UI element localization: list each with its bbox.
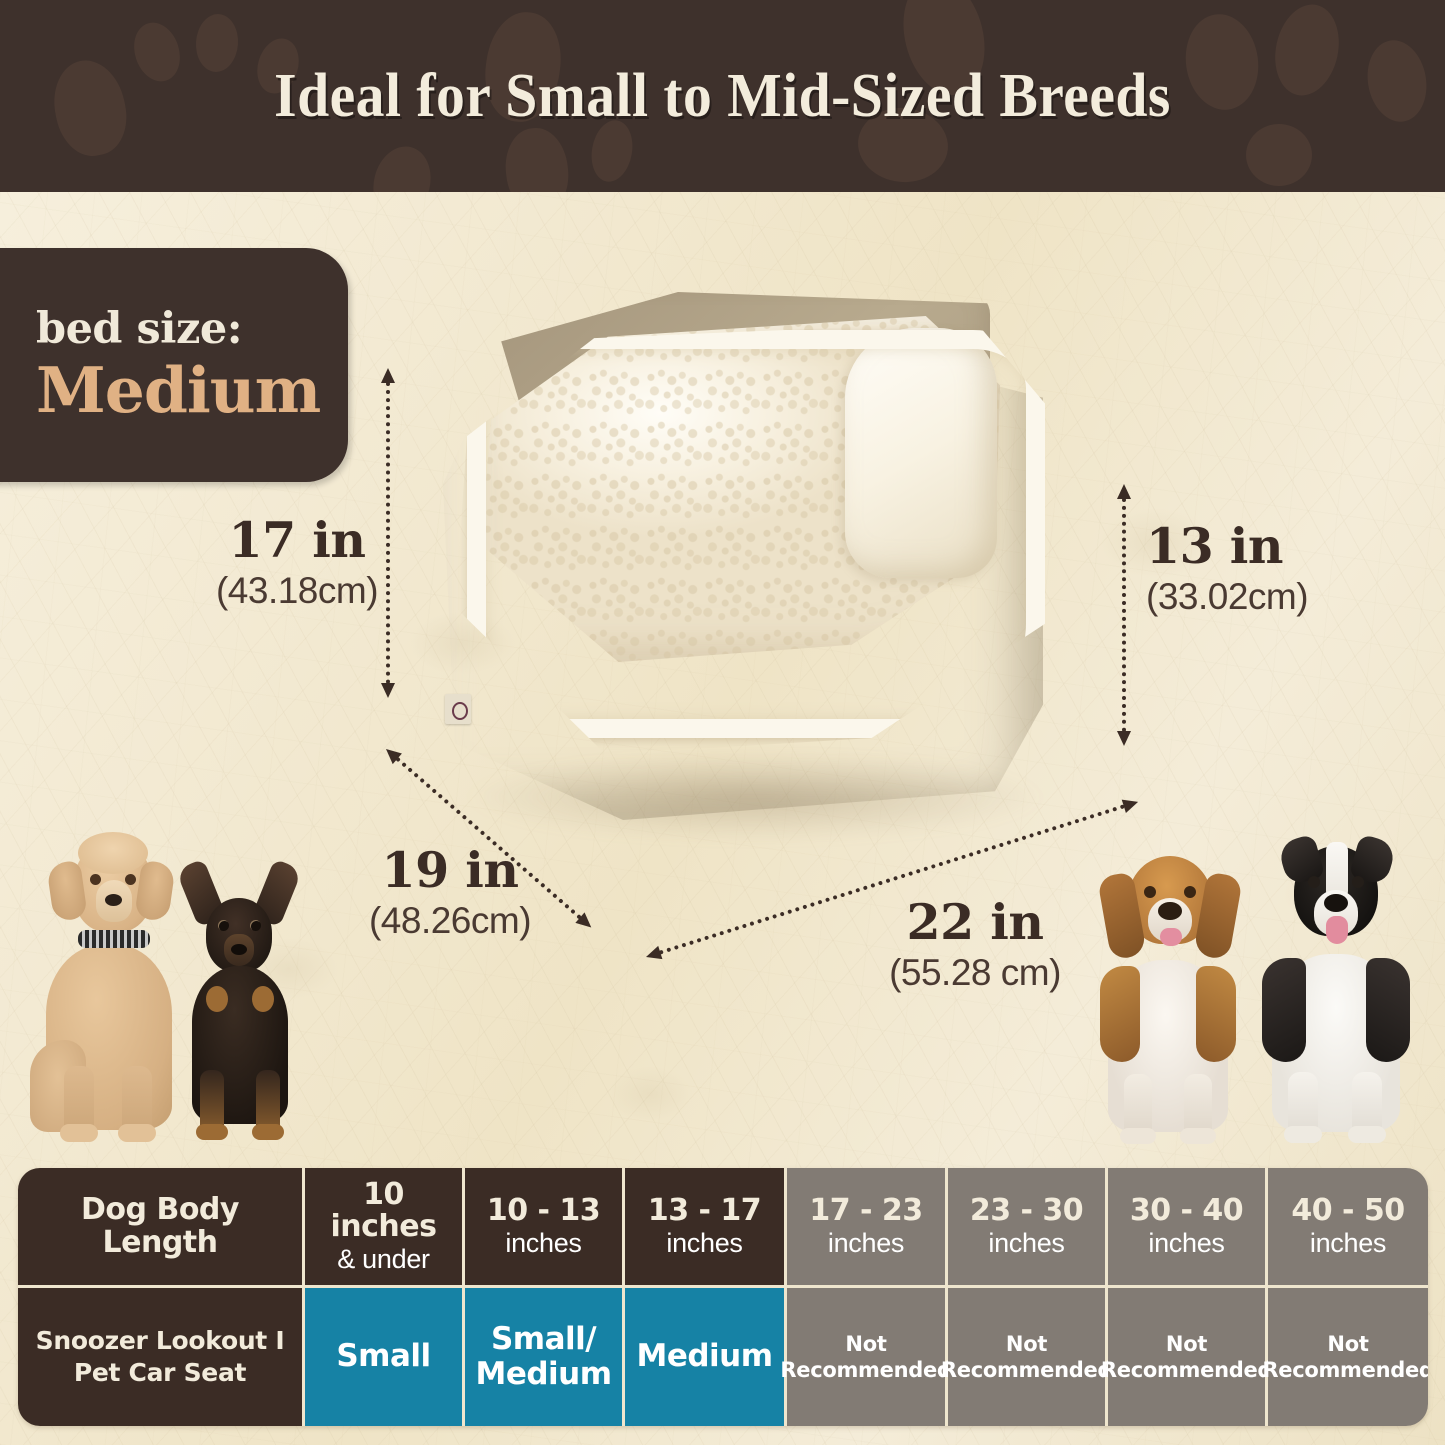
column-range: 13 - 17 <box>648 1195 761 1227</box>
beagle-paw-left <box>1120 1128 1156 1144</box>
dog-photo-border-collie <box>1252 836 1420 1146</box>
collie-paw-right <box>1348 1126 1386 1143</box>
page-title: Ideal for Small to Mid-Sized Breeds <box>51 0 1395 192</box>
poodle-ear-right <box>134 860 176 922</box>
table-header-col-3: 13 - 17 inches <box>625 1168 787 1288</box>
header-line-2: Length <box>103 1227 218 1259</box>
table-header-col-5: 23 - 30 inches <box>948 1168 1108 1288</box>
recommendation-line-2: Medium <box>475 1357 611 1392</box>
collie-eye-right <box>1352 876 1364 888</box>
bed-size-badge: bed size: Medium <box>0 248 348 482</box>
table-cell-recommendation-6: Not Recommended <box>1108 1288 1268 1426</box>
dog-photo-min-pin <box>176 862 306 1146</box>
recommendation-line-1: Not <box>1327 1331 1368 1357</box>
arrowhead-up-icon <box>381 368 395 383</box>
recommendation-line-1: Not <box>845 1331 886 1357</box>
dotted-line <box>1122 498 1126 732</box>
poodle-eye-right <box>125 874 136 885</box>
table-cell-recommendation-5: Not Recommended <box>948 1288 1108 1426</box>
recommendation-line-1: Medium <box>636 1339 772 1374</box>
dimension-cm: (33.02cm) <box>1146 576 1326 619</box>
dimension-inches: 17 in <box>212 516 382 565</box>
table-cell-recommendation-2: Small/ Medium <box>465 1288 625 1426</box>
dog-photo-beagle <box>1090 846 1250 1146</box>
collie-shoulder-left <box>1262 958 1306 1062</box>
table-header-col-1: 10 inches & under <box>305 1168 465 1288</box>
poodle-collar <box>78 930 150 948</box>
arrowhead-up-icon <box>1117 484 1131 499</box>
recommendation-line-1: Not <box>1166 1331 1207 1357</box>
dimension-label-depth: 19 in (48.26cm) <box>330 846 570 943</box>
column-unit: inches <box>828 1228 904 1258</box>
table-cell-recommendation-1: Small <box>305 1288 465 1426</box>
size-chart-table: Dog Body Length 10 inches & under 10 - 1… <box>18 1168 1428 1426</box>
dimension-cm: (48.26cm) <box>330 900 570 943</box>
recommendation-line-2: Recommended <box>941 1357 1112 1383</box>
product-line-1: Snoozer Lookout I <box>36 1325 285 1358</box>
minpin-paw-right <box>252 1124 284 1140</box>
brand-tag <box>445 694 471 724</box>
dimension-inches: 19 in <box>330 846 570 895</box>
table-row-label-product: Snoozer Lookout I Pet Car Seat <box>18 1288 305 1426</box>
poodle-eye-left <box>90 874 101 885</box>
minpin-tan-chest-left <box>206 986 228 1012</box>
dog-photo-poodle <box>26 834 196 1146</box>
column-unit: inches <box>988 1228 1064 1258</box>
collie-eye-left <box>1308 876 1320 888</box>
recommendation-line-2: Recommended <box>1101 1357 1272 1383</box>
arrowhead-down-icon <box>381 683 395 698</box>
bed-size-label: bed size: <box>36 307 348 352</box>
recommendation-line-1: Small <box>336 1339 430 1374</box>
dimension-inches: 22 in <box>850 898 1100 947</box>
bed-size-value: Medium <box>36 357 348 423</box>
dotted-line <box>386 382 390 684</box>
poodle-paw-right <box>118 1124 156 1142</box>
table-header-row-label: Dog Body Length <box>18 1168 305 1288</box>
dimension-line-height-right <box>1117 484 1131 746</box>
beagle-tongue <box>1160 928 1182 946</box>
column-unit: inches <box>1148 1228 1224 1258</box>
recommendation-line-2: Recommended <box>1262 1357 1428 1383</box>
beagle-eye-right <box>1184 886 1196 898</box>
collie-paw-left <box>1284 1126 1322 1143</box>
header-banner: Ideal for Small to Mid-Sized Breeds <box>0 0 1445 192</box>
column-range: 10 inches <box>311 1179 456 1244</box>
column-unit: & under <box>337 1244 429 1274</box>
poodle-nose <box>105 894 122 906</box>
header-line-1: Dog Body <box>81 1194 239 1226</box>
product-image-pet-car-seat <box>415 282 1075 872</box>
dimension-cm: (55.28 cm) <box>850 952 1100 995</box>
dimension-line-height-left <box>381 368 395 698</box>
column-unit: inches <box>666 1228 742 1258</box>
column-range: 30 - 40 <box>1130 1195 1243 1227</box>
collie-tongue <box>1326 916 1348 944</box>
beagle-nose <box>1158 902 1182 920</box>
dimension-label-height-right: 13 in (33.02cm) <box>1146 522 1326 619</box>
column-range: 23 - 30 <box>970 1195 1083 1227</box>
minpin-eye-right <box>250 920 261 931</box>
column-unit: inches <box>1310 1228 1386 1258</box>
bed-fleece-rim <box>467 330 1045 738</box>
dimension-label-height-left: 17 in (43.18cm) <box>212 516 382 613</box>
beagle-shoulder-right <box>1196 966 1236 1062</box>
table-header-col-6: 30 - 40 inches <box>1108 1168 1268 1288</box>
poodle-topknot <box>78 832 148 874</box>
product-line-2: Pet Car Seat <box>74 1357 246 1390</box>
poodle-paw-left <box>60 1124 98 1142</box>
column-range: 40 - 50 <box>1291 1195 1404 1227</box>
table-header-col-7: 40 - 50 inches <box>1268 1168 1428 1288</box>
dimension-label-width: 22 in (55.28 cm) <box>850 898 1100 995</box>
dimension-inches: 13 in <box>1146 522 1326 571</box>
table-cell-recommendation-3: Medium <box>625 1288 787 1426</box>
collie-nose <box>1324 894 1348 912</box>
table-cell-recommendation-7: Not Recommended <box>1268 1288 1428 1426</box>
minpin-nose <box>231 944 247 955</box>
recommendation-line-1: Not <box>1006 1331 1047 1357</box>
column-range: 10 - 13 <box>487 1195 600 1227</box>
beagle-paw-right <box>1180 1128 1216 1144</box>
minpin-tan-chest-right <box>252 986 274 1012</box>
infographic-canvas: Ideal for Small to Mid-Sized Breeds bed … <box>0 0 1445 1445</box>
table-header-col-4: 17 - 23 inches <box>787 1168 948 1288</box>
minpin-paw-left <box>196 1124 228 1140</box>
recommendation-line-2: Recommended <box>780 1357 951 1383</box>
arrowhead-down-icon <box>1117 731 1131 746</box>
dimension-cm: (43.18cm) <box>212 570 382 613</box>
recommendation-line-1: Small/ <box>491 1322 596 1357</box>
beagle-eye-left <box>1144 886 1156 898</box>
table-header-col-2: 10 - 13 inches <box>465 1168 625 1288</box>
collie-shoulder-right <box>1366 958 1410 1062</box>
column-range: 17 - 23 <box>809 1195 922 1227</box>
column-unit: inches <box>505 1228 581 1258</box>
table-cell-recommendation-4: Not Recommended <box>787 1288 948 1426</box>
beagle-shoulder-left <box>1100 966 1140 1062</box>
minpin-eye-left <box>218 920 229 931</box>
